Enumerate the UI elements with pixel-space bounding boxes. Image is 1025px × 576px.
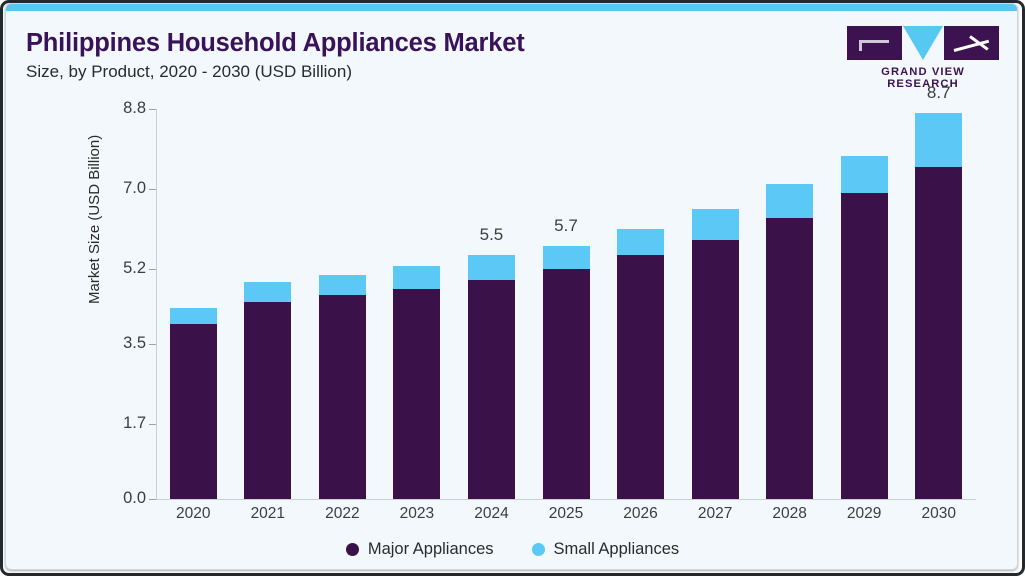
data-label-2024: 5.5	[453, 225, 529, 245]
data-label-2025: 5.7	[528, 216, 604, 236]
bar-2024[interactable]	[468, 255, 515, 499]
bar-segment-major-2022[interactable]	[319, 295, 366, 499]
x-axis-line	[156, 499, 976, 500]
x-axis-label-2024: 2024	[453, 505, 529, 523]
bar-2030[interactable]	[915, 113, 962, 499]
x-axis-label-2021: 2021	[230, 505, 306, 523]
x-axis-label-2027: 2027	[677, 505, 753, 523]
legend-item[interactable]: Small Appliances	[532, 540, 680, 559]
y-axis-tick	[149, 424, 156, 425]
accent-top-bar	[6, 4, 1017, 11]
bar-2023[interactable]	[393, 266, 440, 499]
y-axis-tick	[149, 269, 156, 270]
bar-segment-major-2025[interactable]	[543, 269, 590, 499]
bar-segment-major-2029[interactable]	[841, 193, 888, 499]
bar-segment-major-2024[interactable]	[468, 280, 515, 499]
grand-view-research-logo: GRAND VIEW RESEARCH	[847, 26, 999, 82]
x-axis-label-2025: 2025	[528, 505, 604, 523]
chart-legend: Major AppliancesSmall Appliances	[6, 540, 1018, 559]
data-label-2030: 8.7	[901, 83, 977, 103]
bar-segment-small-2023[interactable]	[393, 266, 440, 288]
bar-segment-small-2025[interactable]	[543, 246, 590, 268]
legend-label: Major Appliances	[368, 540, 494, 559]
y-axis-title: Market Size (USD Billion)	[86, 135, 103, 304]
page-title: Philippines Household Appliances Market	[26, 29, 525, 58]
x-axis-label-2028: 2028	[752, 505, 828, 523]
bar-segment-major-2020[interactable]	[170, 324, 217, 499]
logo-right-block-icon	[944, 26, 999, 60]
x-axis-label-2029: 2029	[826, 505, 902, 523]
x-axis-label-2030: 2030	[901, 505, 977, 523]
y-axis-tick-label: 0.0	[94, 489, 146, 508]
x-axis-label-2023: 2023	[379, 505, 455, 523]
bar-2029[interactable]	[841, 156, 888, 499]
y-axis-tick-label: 1.7	[94, 414, 146, 433]
bar-segment-small-2029[interactable]	[841, 156, 888, 194]
bar-segment-small-2022[interactable]	[319, 275, 366, 295]
bar-segment-major-2026[interactable]	[617, 255, 664, 499]
chart-card: Philippines Household Appliances Market …	[5, 3, 1018, 570]
y-axis-tick	[149, 189, 156, 190]
logo-left-block-icon	[847, 26, 902, 60]
bar-segment-major-2023[interactable]	[393, 289, 440, 500]
legend-circle-marker	[532, 543, 545, 556]
legend-item[interactable]: Major Appliances	[346, 540, 494, 559]
y-axis-tick-label: 8.8	[94, 99, 146, 118]
x-axis-label-2026: 2026	[603, 505, 679, 523]
bar-segment-major-2030[interactable]	[915, 167, 962, 499]
bar-segment-small-2024[interactable]	[468, 255, 515, 279]
y-axis-tick	[149, 109, 156, 110]
bar-segment-major-2021[interactable]	[244, 302, 291, 499]
bar-segment-major-2028[interactable]	[766, 218, 813, 499]
x-axis-label-2020: 2020	[155, 505, 231, 523]
bar-segment-small-2020[interactable]	[170, 308, 217, 324]
bar-2028[interactable]	[766, 184, 813, 499]
bar-segment-small-2021[interactable]	[244, 282, 291, 302]
y-axis-tick-label: 3.5	[94, 334, 146, 353]
y-axis-tick-label: 7.0	[94, 179, 146, 198]
bar-segment-major-2027[interactable]	[692, 240, 739, 499]
bar-2020[interactable]	[170, 308, 217, 499]
x-axis-label-2022: 2022	[304, 505, 380, 523]
logo-triangle-icon	[903, 26, 943, 60]
bar-2027[interactable]	[692, 209, 739, 499]
legend-circle-marker	[346, 543, 359, 556]
bar-2022[interactable]	[319, 275, 366, 499]
bar-2026[interactable]	[617, 229, 664, 499]
bar-segment-small-2030[interactable]	[915, 113, 962, 166]
bar-segment-small-2028[interactable]	[766, 184, 813, 217]
page-subtitle: Size, by Product, 2020 - 2030 (USD Billi…	[26, 62, 352, 82]
legend-label: Small Appliances	[554, 540, 680, 559]
bar-segment-small-2027[interactable]	[692, 209, 739, 240]
bar-segment-small-2026[interactable]	[617, 229, 664, 256]
y-axis-tick	[149, 499, 156, 500]
plot-area: 0.01.73.55.27.08.85.55.78.7	[156, 109, 976, 499]
bar-2025[interactable]	[543, 246, 590, 499]
y-axis-tick	[149, 344, 156, 345]
y-axis-tick-label: 5.2	[94, 259, 146, 278]
bar-2021[interactable]	[244, 282, 291, 499]
